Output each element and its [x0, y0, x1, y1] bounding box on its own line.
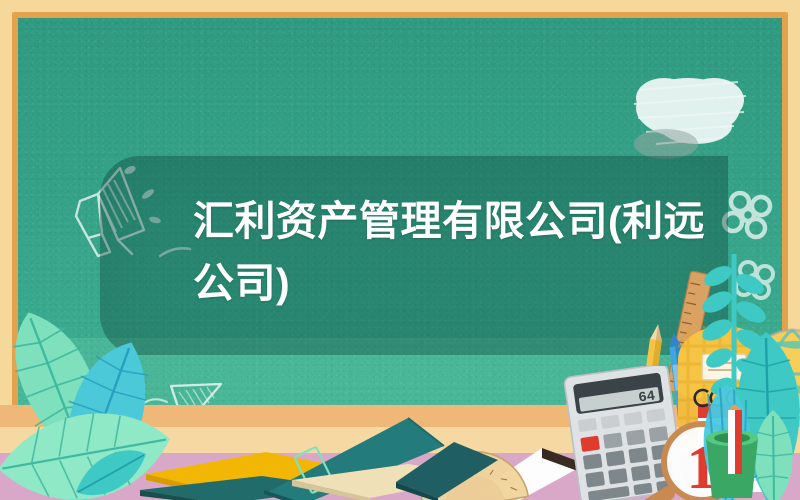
page-title: 汇利资产管理有限公司(利远公司)	[193, 190, 713, 314]
poster-canvas: 汇利资产管理有限公司(利远公司)	[0, 0, 800, 500]
calculator-display: 64	[637, 388, 656, 406]
chalk-cloud-smudge	[626, 60, 756, 165]
pencil-icon	[722, 404, 748, 481]
book-stack-icon	[392, 438, 502, 500]
